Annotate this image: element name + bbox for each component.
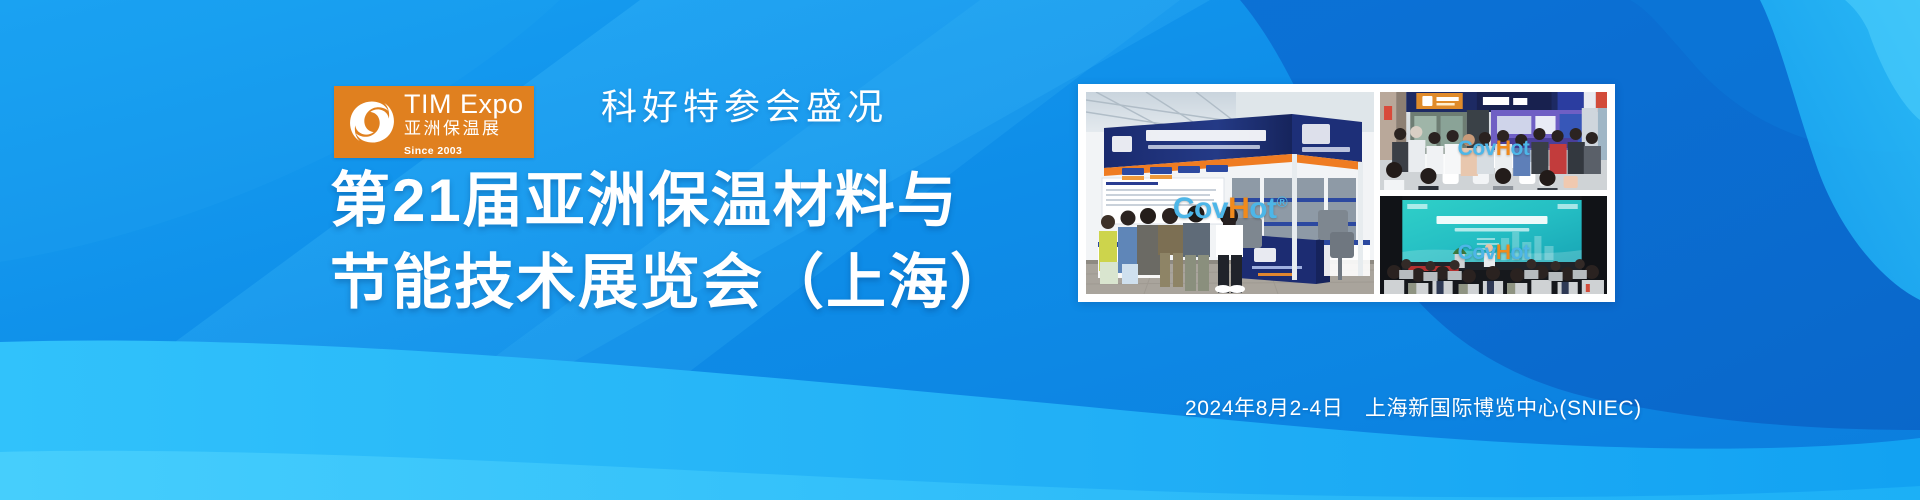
logo-since-text: Since 2003 [404,146,524,157]
logo-brand-en: TIM Expo [404,90,524,118]
forum-photo[interactable]: CovHot [1380,196,1607,294]
photo-collage: CovHot® [1078,84,1615,302]
title-line-1: 第21届亚洲保温材料与 [330,160,1012,242]
exhibition-banner: TIM Expo 亚洲保温展 Since 2003 科好特参会盛况 第21届亚洲… [0,0,1920,500]
venue-date-text: 2024年8月2-4日 上海新国际博览中心(SNIEC) [1185,392,1642,422]
banner-title: 第21届亚洲保温材料与 节能技术展览会（上海） [330,160,1012,324]
hall-crowd-photo[interactable]: CovHot [1380,92,1607,190]
logo-brand-cn: 亚洲保温展 [404,118,524,141]
title-line-2: 节能技术展览会（上海） [330,242,1012,324]
tim-expo-logo[interactable]: TIM Expo 亚洲保温展 Since 2003 [334,86,534,158]
collage-right-column: CovHot [1380,92,1607,294]
banner-subtitle: 科好特参会盛况 [601,78,888,130]
booth-photo[interactable]: CovHot® [1086,92,1374,294]
tim-expo-yin-yang-mark [344,94,400,150]
